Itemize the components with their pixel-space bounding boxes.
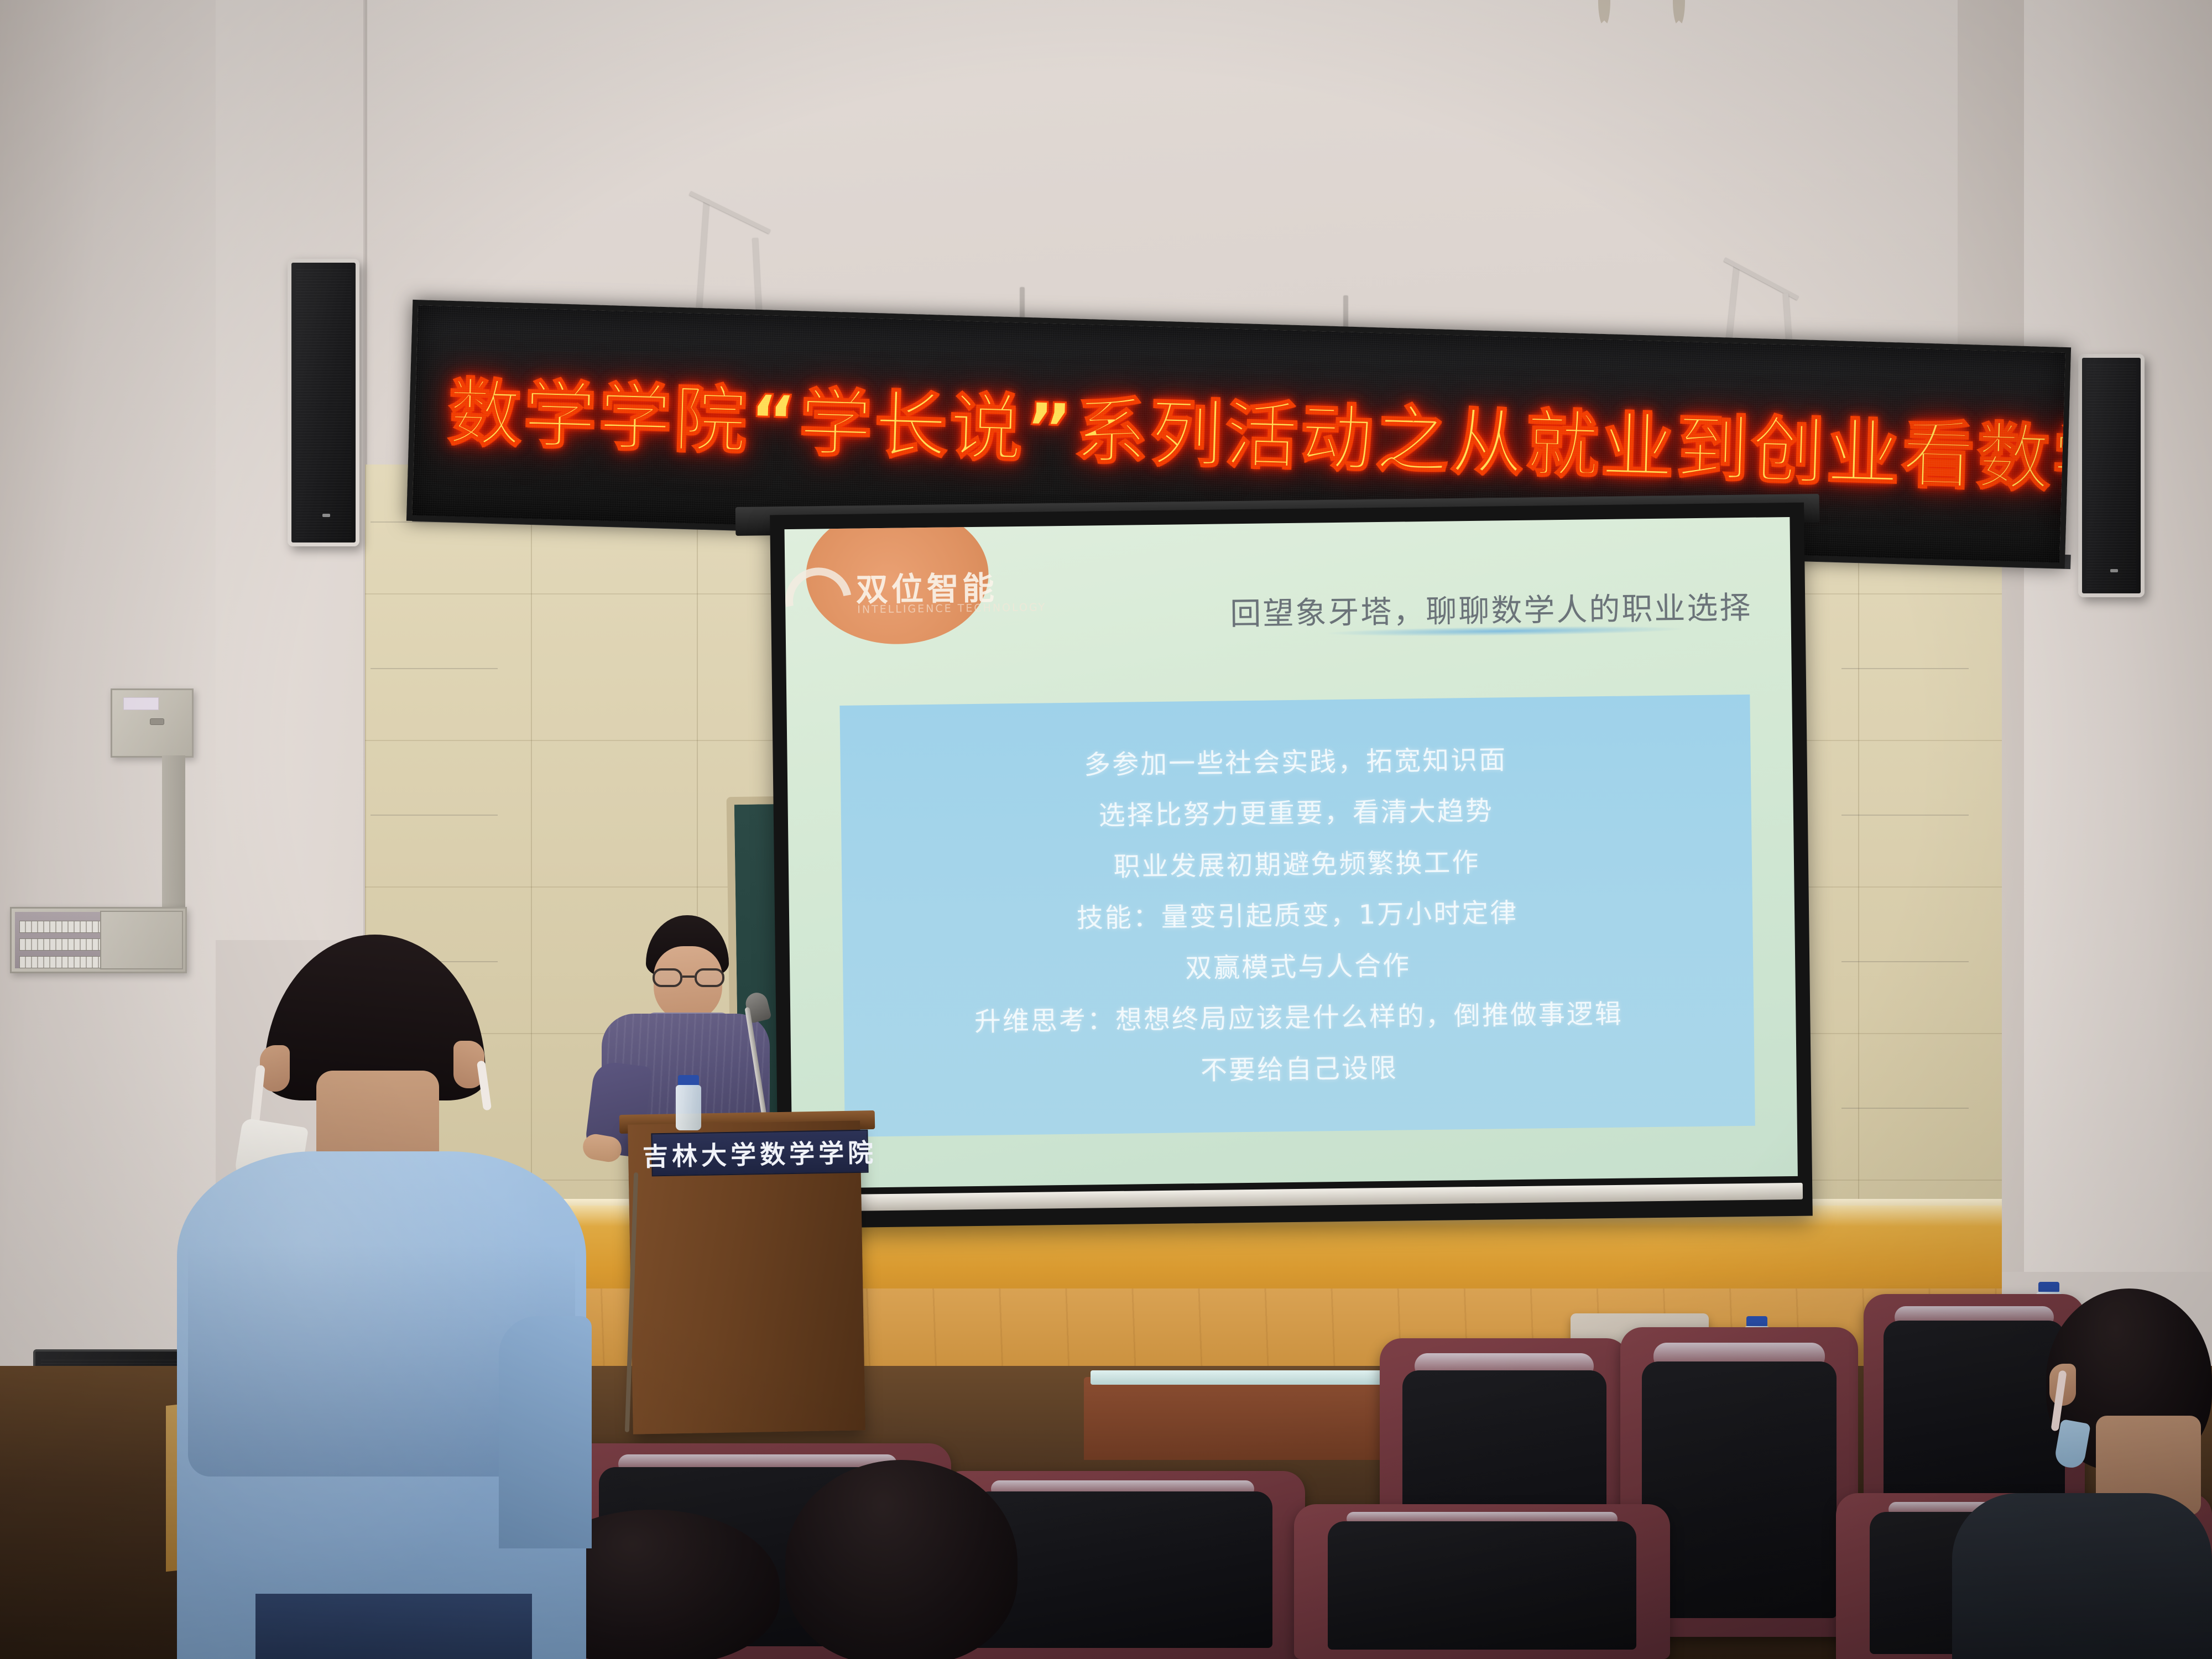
desk-row: [1084, 1377, 1394, 1460]
speaker-grille: [2086, 362, 2136, 589]
seat[interactable]: [1294, 1504, 1670, 1659]
conduit-duct: [162, 755, 185, 927]
glasses-lens-left: [653, 968, 682, 987]
slide-bullet: 升维思考：想想终局应该是什么样的，倒推做事逻辑: [974, 992, 1623, 1039]
breaker-row: [19, 938, 105, 951]
left-wall-speaker: [288, 259, 359, 546]
logo-subtitle: INTELLIGENCE TECHNOLOGY: [857, 601, 1046, 615]
cabinet-lock-icon: [150, 718, 164, 725]
seat-cushion: [973, 1491, 1272, 1647]
slide-bullet: 多参加一些社会实践，拓宽知识面: [1084, 738, 1507, 781]
glasses-bridge: [682, 975, 695, 978]
slide-bullet: 职业发展初期避免频繁换工作: [1113, 840, 1480, 883]
slide-bullet-panel: 多参加一些社会实践，拓宽知识面 选择比努力更重要，看清大趋势 职业发展初期避免频…: [839, 695, 1755, 1137]
speaker-grille: [296, 267, 351, 538]
slide-surface: 双位智能 INTELLIGENCE TECHNOLOGY 回望象牙塔，聊聊数学人…: [785, 517, 1798, 1188]
slide-bullet: 选择比努力更重要，看清大趋势: [1098, 789, 1494, 833]
right-wall-speaker: [2078, 354, 2145, 597]
audience-shoulders: [1952, 1493, 2212, 1659]
audience-head-front: [785, 1460, 1018, 1659]
projection-screen: 双位智能 INTELLIGENCE TECHNOLOGY 回望象牙塔，聊聊数学人…: [770, 503, 1813, 1229]
right-wall-column: [2024, 0, 2212, 1272]
slide-bullet: 不要给自己设限: [1201, 1046, 1399, 1087]
bottle-cap: [1746, 1316, 1767, 1327]
glasses-lens-right: [695, 968, 724, 987]
slide-bullet: 技能：量变引起质变，1万小时定律: [1076, 891, 1518, 935]
breaker-panel-door[interactable]: [100, 911, 183, 969]
standing-attendee: [177, 935, 586, 1659]
lecture-hall-photo: 数学学院“学长说”系列活动之从就业到创业看数学人的自我储备和实践 双位智能 IN…: [0, 0, 2212, 1659]
attendee-sleeve: [499, 1316, 592, 1548]
breaker-interior: [15, 912, 109, 968]
led-banner-text: 数学学院“学长说”系列活动之从就业到创业看数学人的自我储备和实践: [447, 354, 2053, 505]
podium-plaque-text: 吉林大学数学学院: [642, 1133, 877, 1173]
wall-gray-stripe: [371, 465, 498, 962]
breaker-panel-open[interactable]: [10, 907, 187, 973]
electrical-cabinet-closed[interactable]: [111, 688, 194, 758]
wall-gray-stripe: [1841, 465, 1969, 1255]
seat-cushion: [1642, 1361, 1837, 1619]
breaker-row: [19, 921, 105, 933]
breaker-row: [19, 956, 105, 968]
presenter-glasses-icon: [653, 968, 724, 987]
slide-bullet: 双赢模式与人合作: [1185, 943, 1411, 985]
cabinet-label-sticker: [123, 697, 158, 710]
bottle-cap: [2038, 1282, 2059, 1293]
water-bottle-podium: [676, 1085, 701, 1130]
seat-cushion: [1328, 1521, 1636, 1650]
desk-writing-surface: [1091, 1370, 1389, 1385]
attendee-jeans: [255, 1594, 532, 1659]
seat-cushion: [1884, 1321, 2065, 1522]
podium-name-plaque: 吉林大学数学学院: [651, 1130, 868, 1177]
